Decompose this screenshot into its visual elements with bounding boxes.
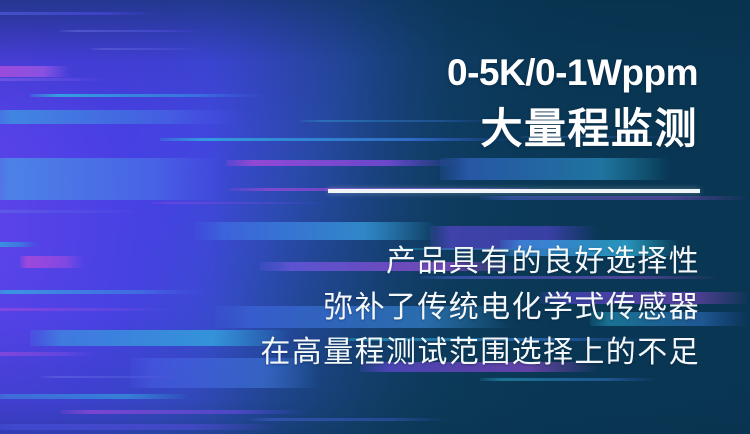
banner-content: 0-5K/0-1Wppm 大量程监测 产品具有的良好选择性 弥补了传统电化学式传… — [0, 0, 750, 434]
body-line-3: 在高量程测试范围选择上的不足 — [260, 330, 700, 376]
promo-banner: 0-5K/0-1Wppm 大量程监测 产品具有的良好选择性 弥补了传统电化学式传… — [0, 0, 750, 434]
body-line-2: 弥补了传统电化学式传感器 — [260, 285, 700, 331]
headline-range-text: 0-5K/0-1Wppm — [447, 54, 698, 93]
headline-subtitle-text: 大量程监测 — [447, 104, 698, 154]
headline-block: 0-5K/0-1Wppm 大量程监测 — [447, 54, 698, 153]
body-copy-block: 产品具有的良好选择性 弥补了传统电化学式传感器 在高量程测试范围选择上的不足 — [260, 239, 700, 376]
body-line-1: 产品具有的良好选择性 — [260, 239, 700, 285]
headline-divider-rule — [328, 189, 700, 193]
